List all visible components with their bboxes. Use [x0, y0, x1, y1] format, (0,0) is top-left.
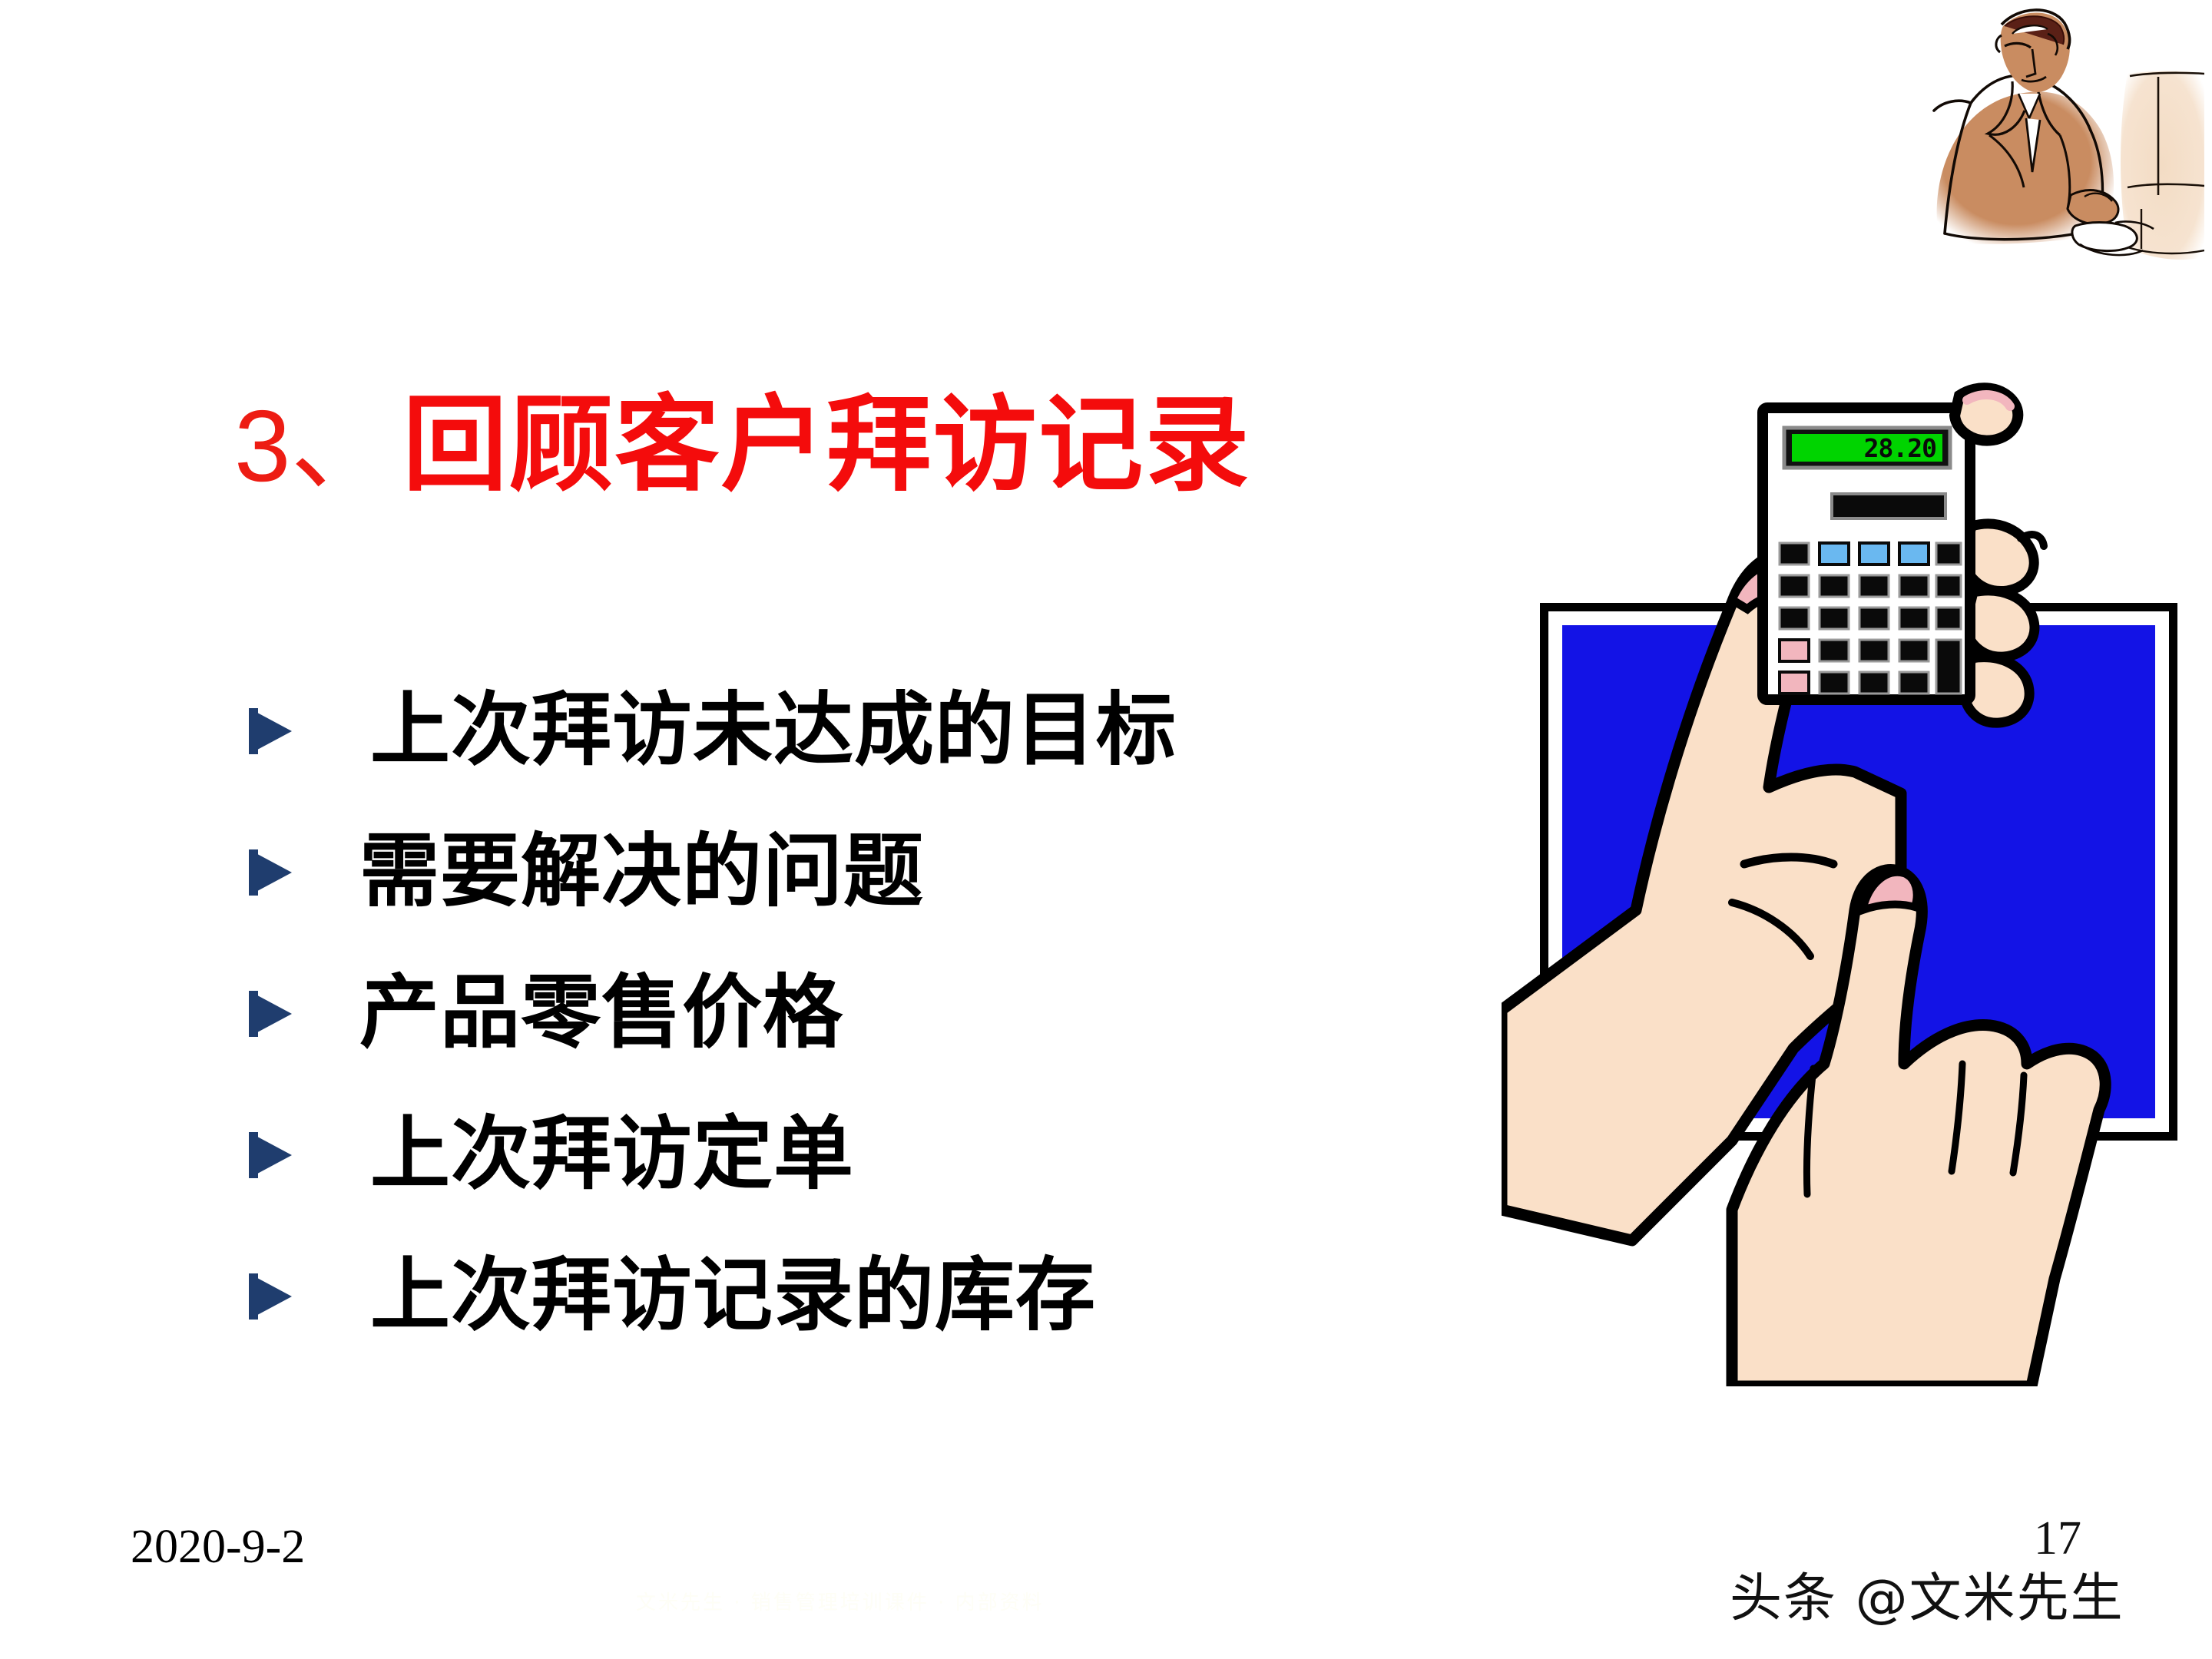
triangle-bullet-icon	[246, 1126, 304, 1183]
list-item-label: 上次拜访未达成的目标	[370, 688, 1177, 772]
triangle-bullet-icon	[246, 1267, 304, 1324]
list-item-label: 需要解决的问题	[359, 829, 924, 913]
triangle-bullet-icon	[246, 985, 304, 1041]
calculator: 28.20	[1763, 408, 1970, 700]
list-item[interactable]: 上次拜访记录的库存	[246, 1238, 1505, 1353]
triangle-bullet-icon	[246, 843, 304, 900]
businessman-at-computer-icon	[1897, 3, 2204, 310]
right-fingertips	[1964, 524, 2044, 723]
thumb-tip-top	[1955, 388, 2018, 440]
slide-canvas: 3、 回顾客户拜访记录 上次拜访未达成的目标 需要解决的问题 产品零售价格	[0, 0, 2212, 1659]
title-number: 3、	[234, 396, 392, 497]
bullet-list: 上次拜访未达成的目标 需要解决的问题 产品零售价格 上次拜访定单 上次拜访记录的	[246, 673, 1505, 1379]
list-item-label: 上次拜访定单	[370, 1112, 854, 1196]
footer-date: 2020-9-2	[131, 1523, 305, 1571]
calculator-lcd-value: 28.20	[1864, 433, 1936, 463]
list-item[interactable]: 需要解决的问题	[246, 814, 1505, 929]
list-item[interactable]: 上次拜访未达成的目标	[246, 673, 1505, 788]
watermark-label: 头条 @文米先生	[1730, 1555, 2124, 1631]
list-item[interactable]: 产品零售价格	[246, 955, 1505, 1071]
triangle-bullet-icon	[246, 702, 304, 759]
slide-title: 3、 回顾客户拜访记录	[234, 393, 1250, 498]
list-item[interactable]: 上次拜访定单	[246, 1097, 1505, 1212]
page-title: 回顾客户拜访记录	[402, 393, 1250, 498]
list-item-label: 上次拜访记录的库存	[370, 1253, 1096, 1337]
list-item-label: 产品零售价格	[359, 971, 843, 1055]
hand-calculator-illustration: 28.20	[1502, 373, 2212, 1386]
footer-ghost-text: 文米先生 · 销售管理培训课件 · 内部资料	[636, 1587, 1045, 1615]
